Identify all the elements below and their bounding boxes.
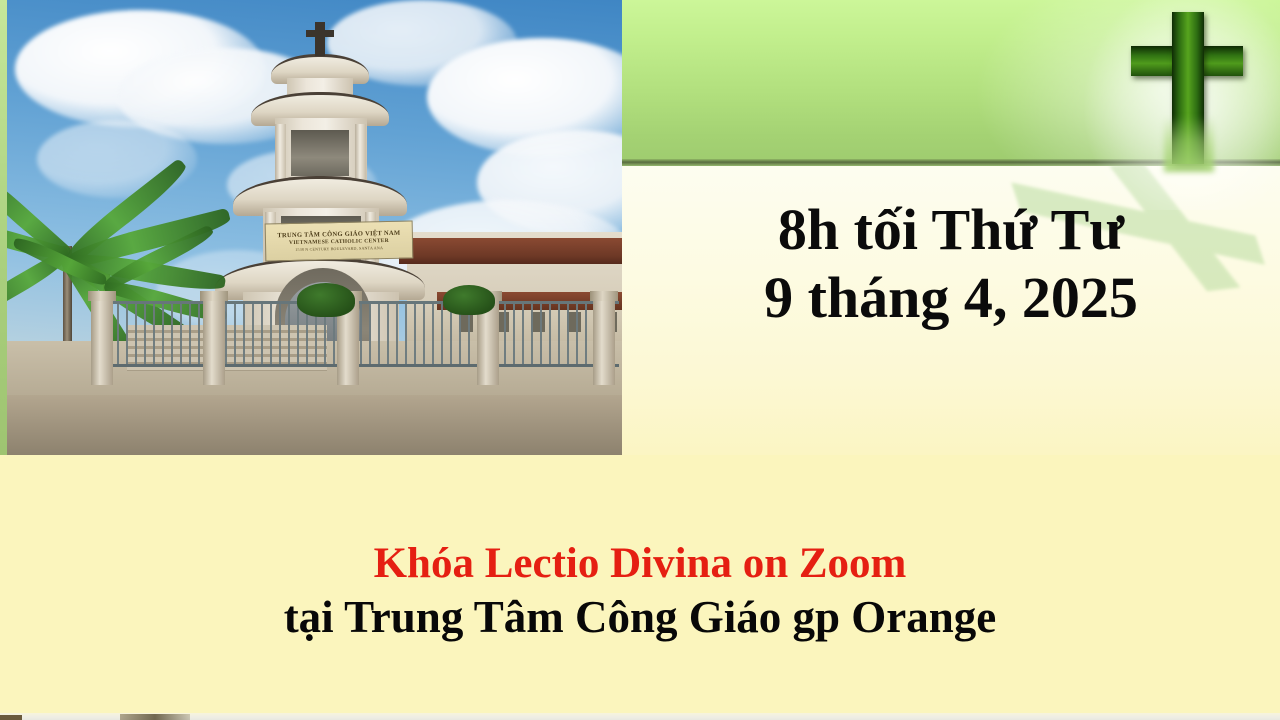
next-slide-mark-secondary: [120, 714, 190, 720]
sidewalk-ground: [7, 395, 622, 455]
cross-icon: [1128, 8, 1256, 166]
cross-icon: [315, 22, 325, 56]
bell-opening: [291, 130, 349, 176]
fence-pillar: [593, 299, 615, 385]
iron-fence: [99, 301, 619, 367]
fence-pillar: [91, 299, 113, 385]
shrub: [297, 283, 355, 317]
event-time-line: 8h tối Thứ Tư: [622, 196, 1280, 264]
presentation-slide: TRUNG TÂM CÔNG GIÁO VIỆT NAM VIETNAMESE …: [0, 0, 1280, 720]
next-slide-sliver: [0, 713, 1280, 720]
event-datetime: 8h tối Thứ Tư 9 tháng 4, 2025: [622, 196, 1280, 333]
event-date-line: 9 tháng 4, 2025: [622, 264, 1280, 332]
event-caption: Khóa Lectio Divina on Zoom tại Trung Tâm…: [0, 538, 1280, 645]
tower-column: [355, 124, 366, 186]
fence-pillar: [203, 299, 225, 385]
church-photo: TRUNG TÂM CÔNG GIÁO VIỆT NAM VIETNAMESE …: [7, 0, 622, 455]
center-signboard: TRUNG TÂM CÔNG GIÁO VIỆT NAM VIETNAMESE …: [265, 220, 414, 261]
event-location: tại Trung Tâm Công Giáo gp Orange: [0, 590, 1280, 645]
cross-bottom-fade: [1164, 116, 1214, 172]
shrub: [443, 285, 495, 315]
event-title: Khóa Lectio Divina on Zoom: [0, 538, 1280, 590]
tower-column: [275, 124, 286, 186]
next-slide-mark: [0, 715, 22, 720]
signboard-line-address: 1538 N CENTURY BOULEVARD, SANTA ANA: [295, 245, 383, 252]
left-edge-accent-strip: [0, 0, 7, 455]
building-wing-roof: [399, 238, 622, 264]
